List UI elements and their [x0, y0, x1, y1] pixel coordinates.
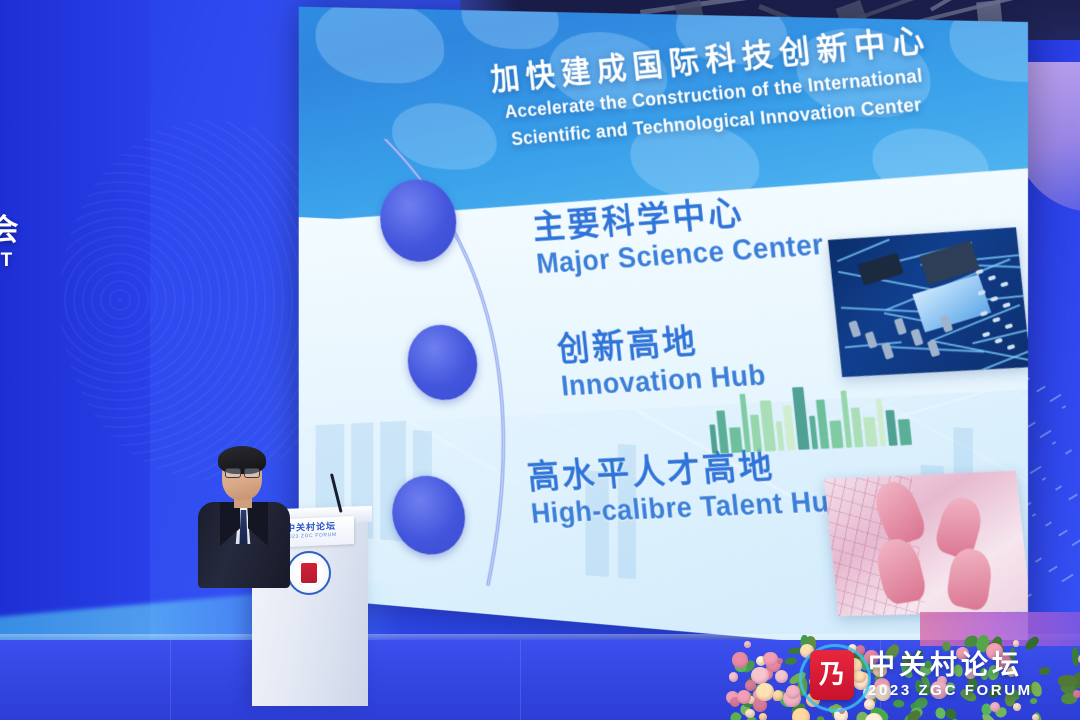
skyline-building: [863, 417, 877, 447]
flower-bloom: [1007, 667, 1016, 676]
pcb-cap-part: [848, 320, 861, 338]
flower-leaf: [935, 707, 947, 720]
flower-leaf: [914, 648, 924, 657]
flower-bloom: [853, 671, 866, 684]
pcb-cap-part: [980, 311, 989, 317]
flower-bloom: [763, 652, 777, 666]
flower-bloom: [775, 670, 788, 683]
pcb-cap-part: [881, 342, 894, 360]
map-landmass: [316, 7, 445, 85]
skyline-building: [760, 400, 776, 451]
flower-bloom: [806, 693, 820, 707]
pcb-cap-part: [990, 296, 999, 302]
flower-bloom: [873, 664, 887, 678]
flower-bloom: [986, 643, 1003, 660]
speaker-glasses-left-lens: [225, 468, 241, 478]
stage-flower-arrangement: [726, 626, 1080, 720]
left-wall-signage: 峰 会 UMMIT: [0, 214, 88, 274]
flower-leaf: [967, 677, 977, 691]
flower-bloom: [856, 645, 865, 654]
map-landmass: [550, 31, 667, 111]
flower-bloom: [729, 672, 738, 681]
flower-bloom: [759, 713, 767, 720]
city-skyline-graphic: [705, 375, 880, 453]
flower-bloom: [745, 680, 755, 690]
flower-bloom: [1013, 703, 1021, 711]
flower-leaf: [1029, 697, 1037, 704]
skyline-building: [816, 400, 830, 449]
map-landmass: [797, 27, 931, 119]
skyline-building: [851, 408, 864, 448]
skyline-building: [716, 410, 729, 453]
flower-leaf: [881, 642, 902, 663]
pcb-cap-part: [1000, 281, 1009, 287]
pcb-cap-part: [992, 317, 1001, 323]
flower-bloom: [732, 652, 747, 667]
panel-fleck: [1052, 441, 1056, 445]
pcb-cap-part: [894, 318, 907, 336]
panel-fleck: [1068, 494, 1078, 501]
flower-leaf: [729, 711, 741, 720]
pcb-cap-part: [975, 269, 984, 275]
flower-bloom: [819, 663, 834, 678]
teamwork-hands-photo: [824, 471, 1028, 616]
panel-fleck: [1048, 566, 1058, 573]
skirt-seam: [520, 640, 521, 720]
flower-leaf: [914, 679, 922, 692]
panel-fleck: [1035, 557, 1042, 562]
left-signage-en: UMMIT: [0, 248, 88, 274]
left-signage-cn: 峰 会: [0, 214, 88, 248]
map-landmass: [462, 7, 559, 50]
flower-bloom: [1073, 690, 1080, 698]
skyline-building: [729, 427, 743, 453]
flower-bloom: [828, 674, 846, 692]
panel-fleck: [1065, 449, 1072, 454]
pcb-cap-part: [910, 329, 923, 347]
skyline-building: [809, 416, 818, 450]
pcb-cap-part: [994, 338, 1003, 344]
flower-leaf: [940, 640, 952, 653]
pcb-cap-part: [988, 275, 997, 281]
flower-bloom: [777, 658, 783, 664]
panel-fleck: [1055, 485, 1062, 490]
flower-bloom: [756, 683, 773, 700]
flower-bloom: [875, 684, 892, 701]
pcb-lcd-part: [912, 274, 991, 332]
skyline-building: [750, 415, 762, 452]
pcb-cap-part: [1004, 323, 1013, 329]
flower-leaf: [892, 699, 904, 709]
flower-bloom: [864, 699, 875, 710]
podium-emblem-icon: [287, 551, 331, 595]
flower-bloom: [809, 677, 818, 686]
panel-fleck: [1045, 521, 1052, 526]
conference-stage-screenshot: 峰 会 UMMIT 加快建成国际科技创新中心 Accelerate the Co…: [0, 0, 1080, 720]
flower-bloom: [965, 668, 976, 679]
panel-fleck: [1061, 574, 1073, 583]
panel-fleck: [1036, 386, 1046, 393]
flower-leaf: [783, 656, 796, 666]
led-presentation-screen: 加快建成国际科技创新中心 Accelerate the Construction…: [299, 7, 1028, 662]
flower-leaf: [1039, 667, 1050, 675]
pcb-cap-part: [982, 331, 991, 337]
flower-leaf: [1031, 681, 1043, 697]
flower-bloom: [930, 681, 948, 699]
flower-bloom: [1013, 640, 1019, 646]
flower-leaf: [986, 681, 1005, 700]
slide-bullet-3: 高水平人才高地 High-calibre Talent Hub: [526, 443, 849, 532]
flower-bloom: [800, 644, 814, 658]
flower-bloom: [744, 641, 751, 648]
pcb-cap-part: [1007, 344, 1016, 350]
panel-fleck: [1062, 405, 1066, 409]
flower-bloom: [792, 708, 810, 720]
panel-fleck: [1039, 430, 1051, 439]
skyline-building: [776, 421, 785, 451]
panel-fleck: [1058, 530, 1068, 537]
flower-leaf: [1023, 635, 1041, 652]
panel-fleck: [1049, 394, 1061, 403]
panel-fleck: [1071, 538, 1080, 547]
speaker-glasses-right-lens: [244, 468, 260, 478]
skirt-seam: [170, 640, 171, 720]
panel-fleck: [1042, 477, 1046, 481]
podium-emblem-inner: [299, 561, 319, 585]
flower-bloom: [834, 666, 841, 673]
panel-fleck: [1032, 513, 1036, 517]
flower-bloom: [956, 647, 969, 660]
speaker-person: [196, 446, 292, 586]
flower-bloom: [1032, 714, 1039, 720]
panel-fleck: [1029, 466, 1041, 475]
flower-leaf: [815, 714, 825, 720]
skyline-building: [829, 420, 843, 448]
circuit-board-photo: [828, 227, 1028, 377]
flower-leaf: [953, 664, 963, 677]
flower-bloom: [864, 650, 879, 665]
